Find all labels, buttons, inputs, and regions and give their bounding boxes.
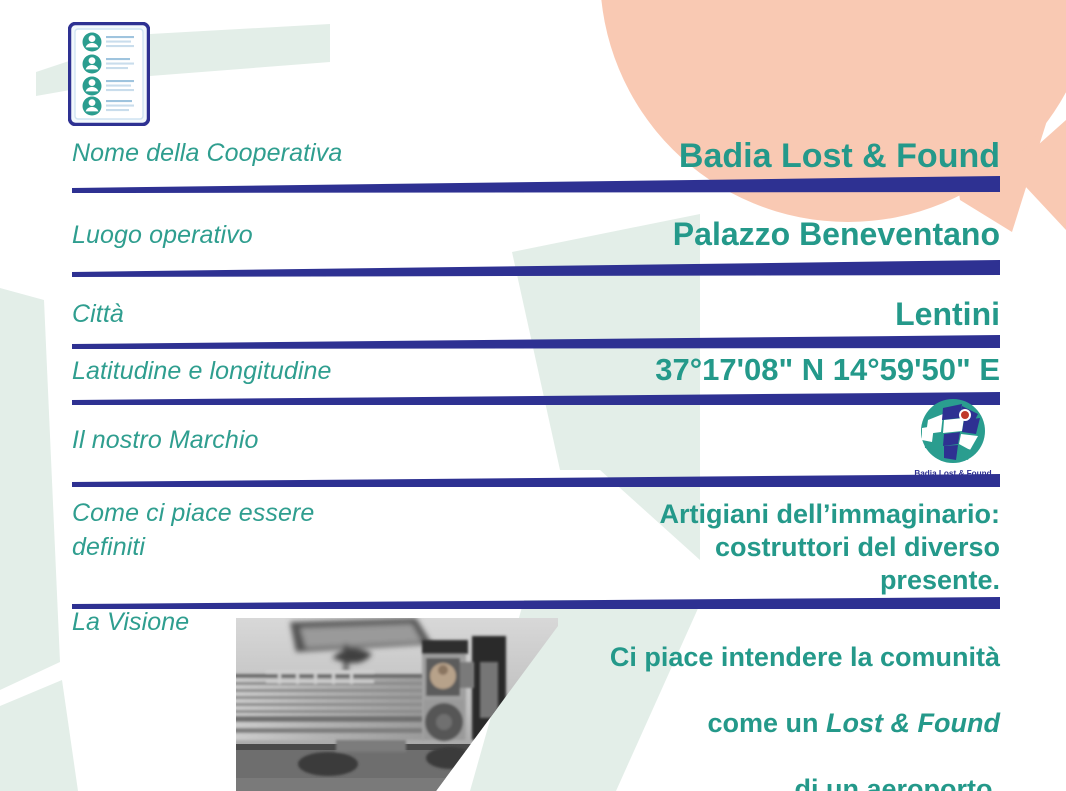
row-divider [72,176,1000,198]
row-divider [72,472,1000,494]
vision-line-1: Ci piace intendere la comunità [610,641,1000,674]
row-divider [72,258,1000,280]
row-divider [72,390,1000,412]
row-label-luogo-operativo: Luogo operativo [72,219,253,252]
vision-line-2-head: come un [708,708,827,738]
table-row: Come ci piace essere definiti Artigiani … [72,496,1000,586]
row-label-il-nostro-marchio: Il nostro Marchio [72,424,259,457]
row-label-latitudine-e-longitudine: Latitudine e longitudine [72,355,332,388]
vision-line-3: di un aeroporto. [610,773,1000,791]
row-value-luogo-operativo: Palazzo Beneventano [673,216,1000,253]
row-value-latitudine-e-longitudine: 37°17'08" N 14°59'50" E [655,352,1000,388]
vision-line-2-emphasis: Lost & Found [826,708,1000,738]
row-value-come-ci-piace-essere-definiti: Artigiani dell’immaginario: costruttori … [659,498,1000,597]
vision-line-2: come un Lost & Found [610,707,1000,740]
row-value-la-visione: Ci piace intendere la comunità come un L… [610,608,1000,791]
row-label-citta: Città [72,298,124,331]
row-label-la-visione: La Visione [72,606,189,639]
row-label-come-ci-piace-essere-definiti: Come ci piace essere definiti [72,496,314,564]
three-wheeler-truck-photo [236,618,558,791]
badia-lost-and-found-logo: Badia Lost & Found [910,398,996,482]
row-value-citta: Lentini [895,296,1000,333]
row-label-nome-della-cooperativa: Nome della Cooperativa [72,137,342,170]
slide-canvas: Nome della Cooperativa Badia Lost & Foun… [0,0,1066,791]
row-value-nome-della-cooperativa: Badia Lost & Found [679,137,1000,177]
